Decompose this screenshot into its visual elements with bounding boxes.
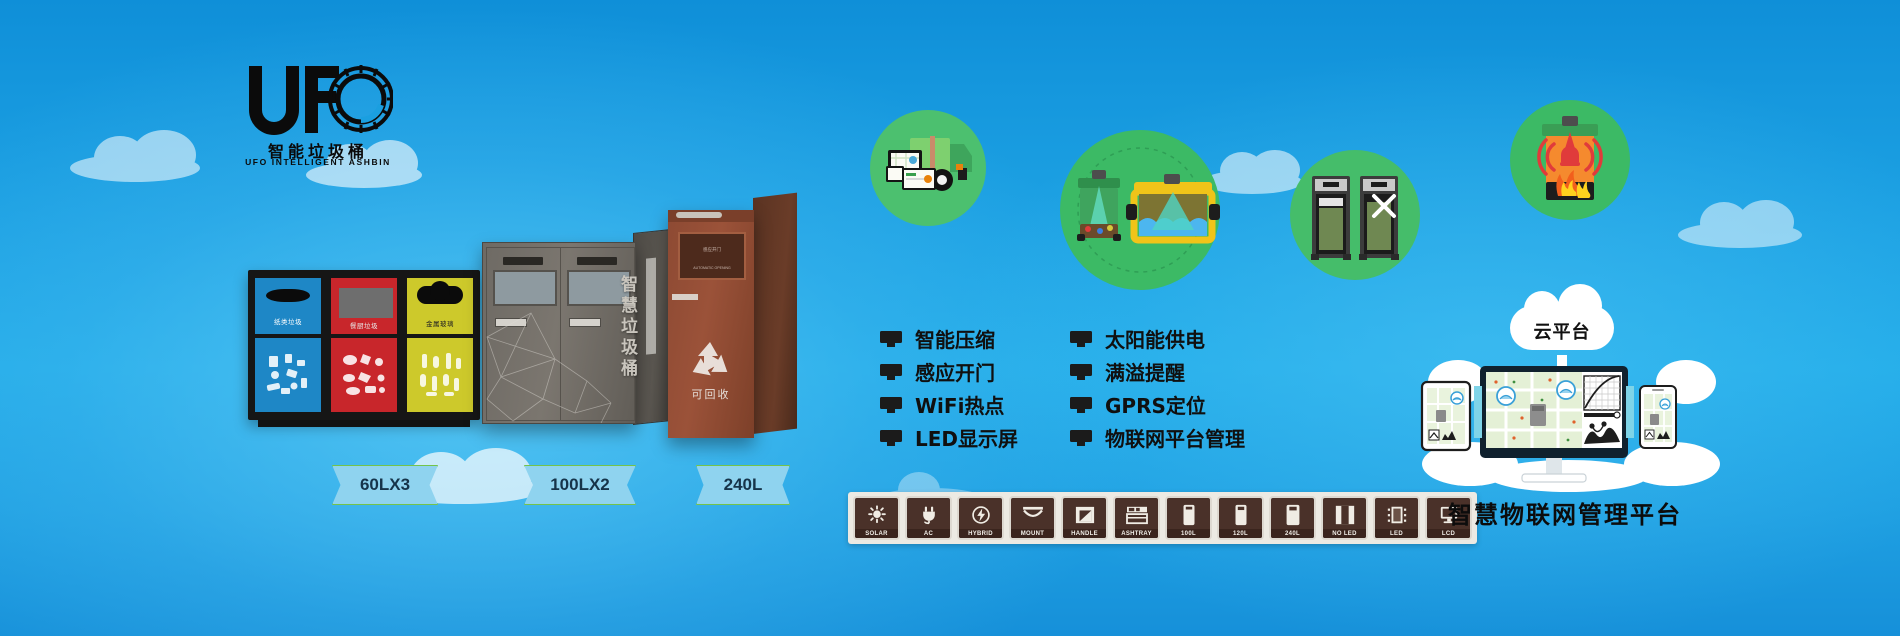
- option-ac[interactable]: AC: [905, 496, 952, 540]
- option-mount[interactable]: MOUNT: [1009, 496, 1056, 540]
- product-banner: 智能垃圾桶 UFO INTELLIGENT ASHBIN 纸类垃圾: [0, 0, 1900, 636]
- compartment-label-kitchen: 餐厨垃圾: [331, 320, 397, 330]
- bin-100l-icon: [1167, 498, 1210, 529]
- option-label: HYBRID: [959, 529, 1002, 538]
- option-label: MOUNT: [1011, 529, 1054, 538]
- handle-icon: [1063, 498, 1106, 529]
- feature-label: 物联网平台管理: [1105, 423, 1245, 452]
- option-label: 240L: [1271, 529, 1314, 538]
- feature-label: WiFi热点: [915, 390, 1004, 419]
- bin-240l-recycle: 感应开门 AUTOMATIC OPENING 可回收: [668, 202, 796, 440]
- compartment-label-metal-glass: 金属玻璃: [407, 318, 473, 328]
- feature-list: 智能压缩 太阳能供电 感应开门 满溢提醒 WiFi热点 GPRS定位 LED显示…: [880, 322, 1340, 454]
- feature-item: 物联网平台管理: [1070, 421, 1340, 454]
- cloud-platform-label: 云平台: [1510, 318, 1614, 344]
- option-label: LED: [1375, 529, 1418, 538]
- compartment-top-red: 餐厨垃圾: [331, 278, 397, 334]
- ufo-logo-mark: [243, 62, 393, 138]
- lightning-icon: [959, 498, 1002, 529]
- platform-caption: 智慧物联网管理平台: [1400, 495, 1730, 530]
- collection-truck-icon: [870, 110, 986, 226]
- monitor-bullet-icon: [1070, 331, 1092, 347]
- capacity-banner-240l: 240L: [696, 465, 790, 505]
- feature-circle-collection-truck: [870, 110, 986, 226]
- monitor-bullet-icon: [880, 430, 902, 446]
- mount-icon: [1011, 498, 1054, 529]
- bin-slot-panel: [337, 286, 395, 320]
- bin-legs: [258, 420, 470, 427]
- bin-side-text: 智慧垃圾桶: [615, 275, 640, 380]
- capacity-banner-100lx2: 100LX2: [524, 465, 636, 505]
- bin-led-strip-left: [503, 257, 543, 265]
- option-icon-strip: SOLAR AC HYBRID MOUNT HANDLE: [848, 492, 1477, 544]
- compartment-label-paper: 纸类垃圾: [255, 316, 321, 326]
- sun-icon: [855, 498, 898, 529]
- option-hybrid[interactable]: HYBRID: [957, 496, 1004, 540]
- cloud-decor-5: [1670, 200, 1820, 252]
- bin240-screen-line2: AUTOMATIC OPENING: [680, 266, 744, 272]
- bin-3-compartment: 纸类垃圾 餐厨垃圾: [248, 270, 480, 420]
- feature-item: WiFi热点: [880, 388, 1070, 421]
- monitor-bullet-icon: [1070, 364, 1092, 380]
- bin240-side-panel: [753, 193, 797, 434]
- option-label: 120L: [1219, 529, 1262, 538]
- feature-label: 智能压缩: [915, 324, 995, 353]
- bin240-screen: 感应开门 AUTOMATIC OPENING: [678, 232, 746, 280]
- option-handle[interactable]: HANDLE: [1061, 496, 1108, 540]
- monitor-bullet-icon: [1070, 397, 1092, 413]
- option-label: HANDLE: [1063, 529, 1106, 538]
- logo-english-text: UFO INTELLIGENT ASHBIN: [243, 157, 393, 167]
- compartment-top-blue: 纸类垃圾: [255, 278, 321, 334]
- feature-item: 感应开门: [880, 355, 1070, 388]
- bin240-front-panel: 感应开门 AUTOMATIC OPENING 可回收: [668, 210, 754, 438]
- compartment-body-blue: [255, 338, 321, 412]
- option-label: LCD: [1427, 529, 1470, 538]
- bin-2-compartment-smart: 智慧垃圾桶: [482, 242, 672, 432]
- recycle-symbol-icon: [686, 338, 734, 386]
- feature-circle-fire-alarm: [1510, 100, 1630, 220]
- compartment-top-yellow: 金属玻璃: [407, 278, 473, 334]
- no-led-icon: [1323, 498, 1366, 529]
- option-240l[interactable]: 240L: [1269, 496, 1316, 540]
- feature-label: 感应开门: [915, 357, 995, 386]
- option-100l[interactable]: 100L: [1165, 496, 1212, 540]
- feature-item: 满溢提醒: [1070, 355, 1340, 388]
- bin240-lid-vent: [676, 212, 722, 218]
- feature-item: LED显示屏: [880, 421, 1070, 454]
- option-label: NO LED: [1323, 529, 1366, 538]
- paper-waste-icon: [261, 348, 315, 402]
- capacity-banner-60lx3: 60LX3: [332, 465, 438, 505]
- bin-slot-round: [417, 286, 463, 304]
- option-120l[interactable]: 120L: [1217, 496, 1264, 540]
- cloud-decor-1: [60, 130, 230, 190]
- bin240-screen-line1: 感应开门: [680, 246, 744, 254]
- option-label: AC: [907, 529, 950, 538]
- bin-compartment-metal-glass: 金属玻璃: [407, 278, 473, 412]
- feature-label: LED显示屏: [915, 423, 1018, 452]
- compartment-body-yellow: [407, 338, 473, 412]
- metal-glass-waste-icon: [413, 348, 467, 402]
- feature-item: 太阳能供电: [1070, 322, 1340, 355]
- geometric-pattern-decor: [483, 303, 635, 423]
- feature-item: GPRS定位: [1070, 388, 1340, 421]
- bin240-handle[interactable]: [672, 294, 698, 300]
- bin-240l-icon: [1271, 498, 1314, 529]
- devices-dashboard-icon: [1418, 352, 1724, 492]
- option-label: ASHTRAY: [1115, 529, 1158, 538]
- cloud-platform-badge: 云平台: [1510, 300, 1614, 356]
- plug-icon: [907, 498, 950, 529]
- feature-label: GPRS定位: [1105, 390, 1206, 419]
- bin240-recycle-label: 可回收: [668, 386, 754, 402]
- kitchen-waste-icon: [337, 348, 391, 402]
- bin-120l-icon: [1219, 498, 1262, 529]
- bin-compartment-paper: 纸类垃圾: [255, 278, 321, 412]
- bin-compartment-kitchen: 餐厨垃圾: [331, 278, 397, 412]
- monitor-bullet-icon: [880, 397, 902, 413]
- feature-circle-fill-sensor: [1060, 130, 1220, 290]
- feature-label: 满溢提醒: [1105, 357, 1185, 386]
- bin-side-window: [646, 258, 656, 355]
- feature-label: 太阳能供电: [1105, 324, 1205, 353]
- compaction-bins-icon: [1290, 150, 1420, 280]
- compartment-body-red: [331, 338, 397, 412]
- option-label: 100L: [1167, 529, 1210, 538]
- ashtray-icon: [1115, 498, 1158, 529]
- fire-alarm-icon: [1510, 100, 1630, 220]
- monitor-bullet-icon: [1070, 430, 1092, 446]
- bin-slot-oval: [266, 289, 310, 302]
- option-label: SOLAR: [855, 529, 898, 538]
- bin-body: 智慧垃圾桶: [482, 242, 636, 424]
- option-no-led[interactable]: NO LED: [1321, 496, 1368, 540]
- bin-screen-left: [493, 270, 557, 306]
- option-ashtray[interactable]: ASHTRAY: [1113, 496, 1160, 540]
- feature-circle-compaction: [1290, 150, 1420, 280]
- feature-item: 智能压缩: [880, 322, 1070, 355]
- brand-logo: 智能垃圾桶 UFO INTELLIGENT ASHBIN: [243, 62, 393, 172]
- option-solar[interactable]: SOLAR: [853, 496, 900, 540]
- monitor-bullet-icon: [880, 331, 902, 347]
- bin-led-strip-right: [577, 257, 617, 265]
- fill-level-sensor-icon: [1060, 130, 1220, 290]
- iot-platform-illustration: [1418, 352, 1724, 492]
- monitor-bullet-icon: [880, 364, 902, 380]
- bin240-lid: [668, 210, 754, 222]
